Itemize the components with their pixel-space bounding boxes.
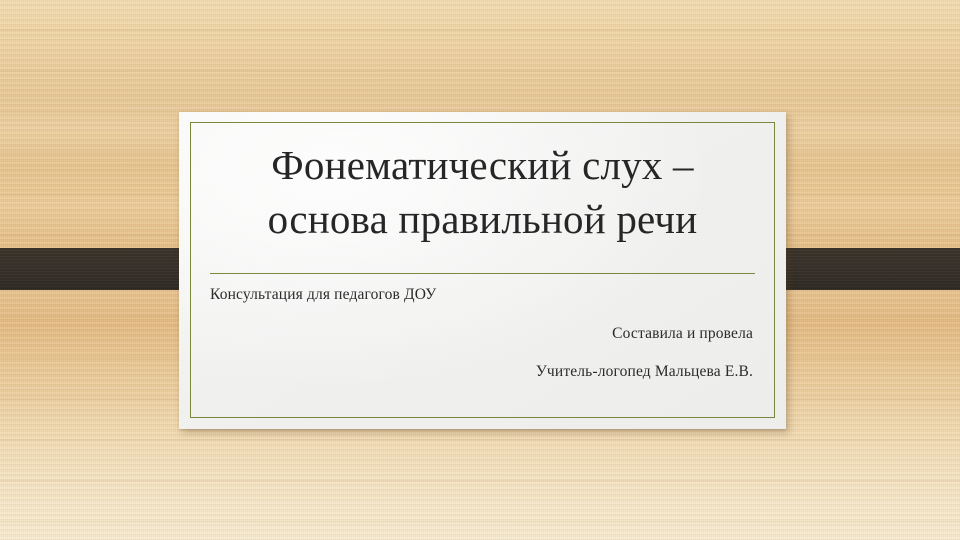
title-card: Фонематический слух – основа правильной … [179, 112, 786, 429]
card-content: Фонематический слух – основа правильной … [179, 112, 786, 429]
decorative-bar-left [0, 248, 192, 290]
title-slide: Фонематический слух – основа правильной … [0, 0, 960, 540]
subtitle-line-author-role: Составила и провела [210, 326, 753, 342]
subtitle-line-author-name: Учитель-логопед Мальцева Е.В. [210, 364, 753, 380]
subtitle-block: Консультация для педагогов ДОУ Составила… [210, 284, 753, 380]
title-divider-rule [210, 273, 755, 274]
slide-title: Фонематический слух – основа правильной … [209, 112, 756, 246]
decorative-bar-right [768, 248, 960, 290]
subtitle-line-audience: Консультация для педагогов ДОУ [210, 287, 753, 303]
